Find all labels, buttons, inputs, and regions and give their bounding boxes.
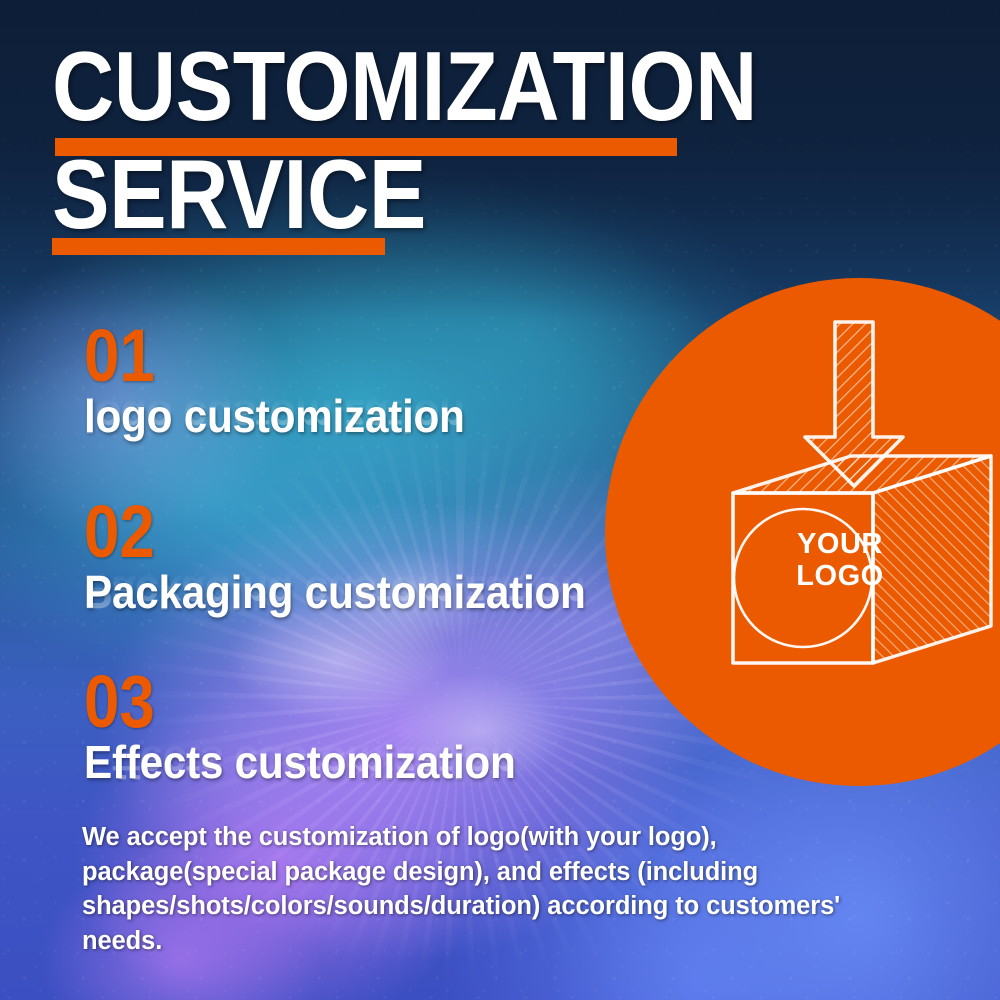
list-item: 02 Packaging customization xyxy=(84,502,629,615)
description-paragraph: We accept the customization of logo(with… xyxy=(82,820,852,959)
logo-placeholder-line-1: YOUR xyxy=(766,528,914,560)
title-underline-bar-1 xyxy=(55,138,677,156)
title-line-1: CUSTOMIZATION xyxy=(52,44,757,128)
promo-banner: CUSTOMIZATION SERVICE 01 logo customizat… xyxy=(0,0,1000,1000)
list-item-number: 01 xyxy=(84,326,440,387)
logo-placeholder-text: YOUR LOGO xyxy=(766,528,914,593)
list-item-label: logo customization xyxy=(84,393,465,439)
list-item-number: 02 xyxy=(84,502,553,563)
list-item-label: Packaging customization xyxy=(84,569,586,615)
list-item: 01 logo customization xyxy=(84,326,498,439)
logo-placeholder-line-2: LOGO xyxy=(766,560,914,592)
list-item-number: 03 xyxy=(84,672,487,733)
title-line-2: SERVICE xyxy=(52,152,757,236)
list-item-label: Effects customization xyxy=(84,739,516,785)
title-underline-bar-2 xyxy=(52,238,385,255)
list-item: 03 Effects customization xyxy=(84,672,553,785)
